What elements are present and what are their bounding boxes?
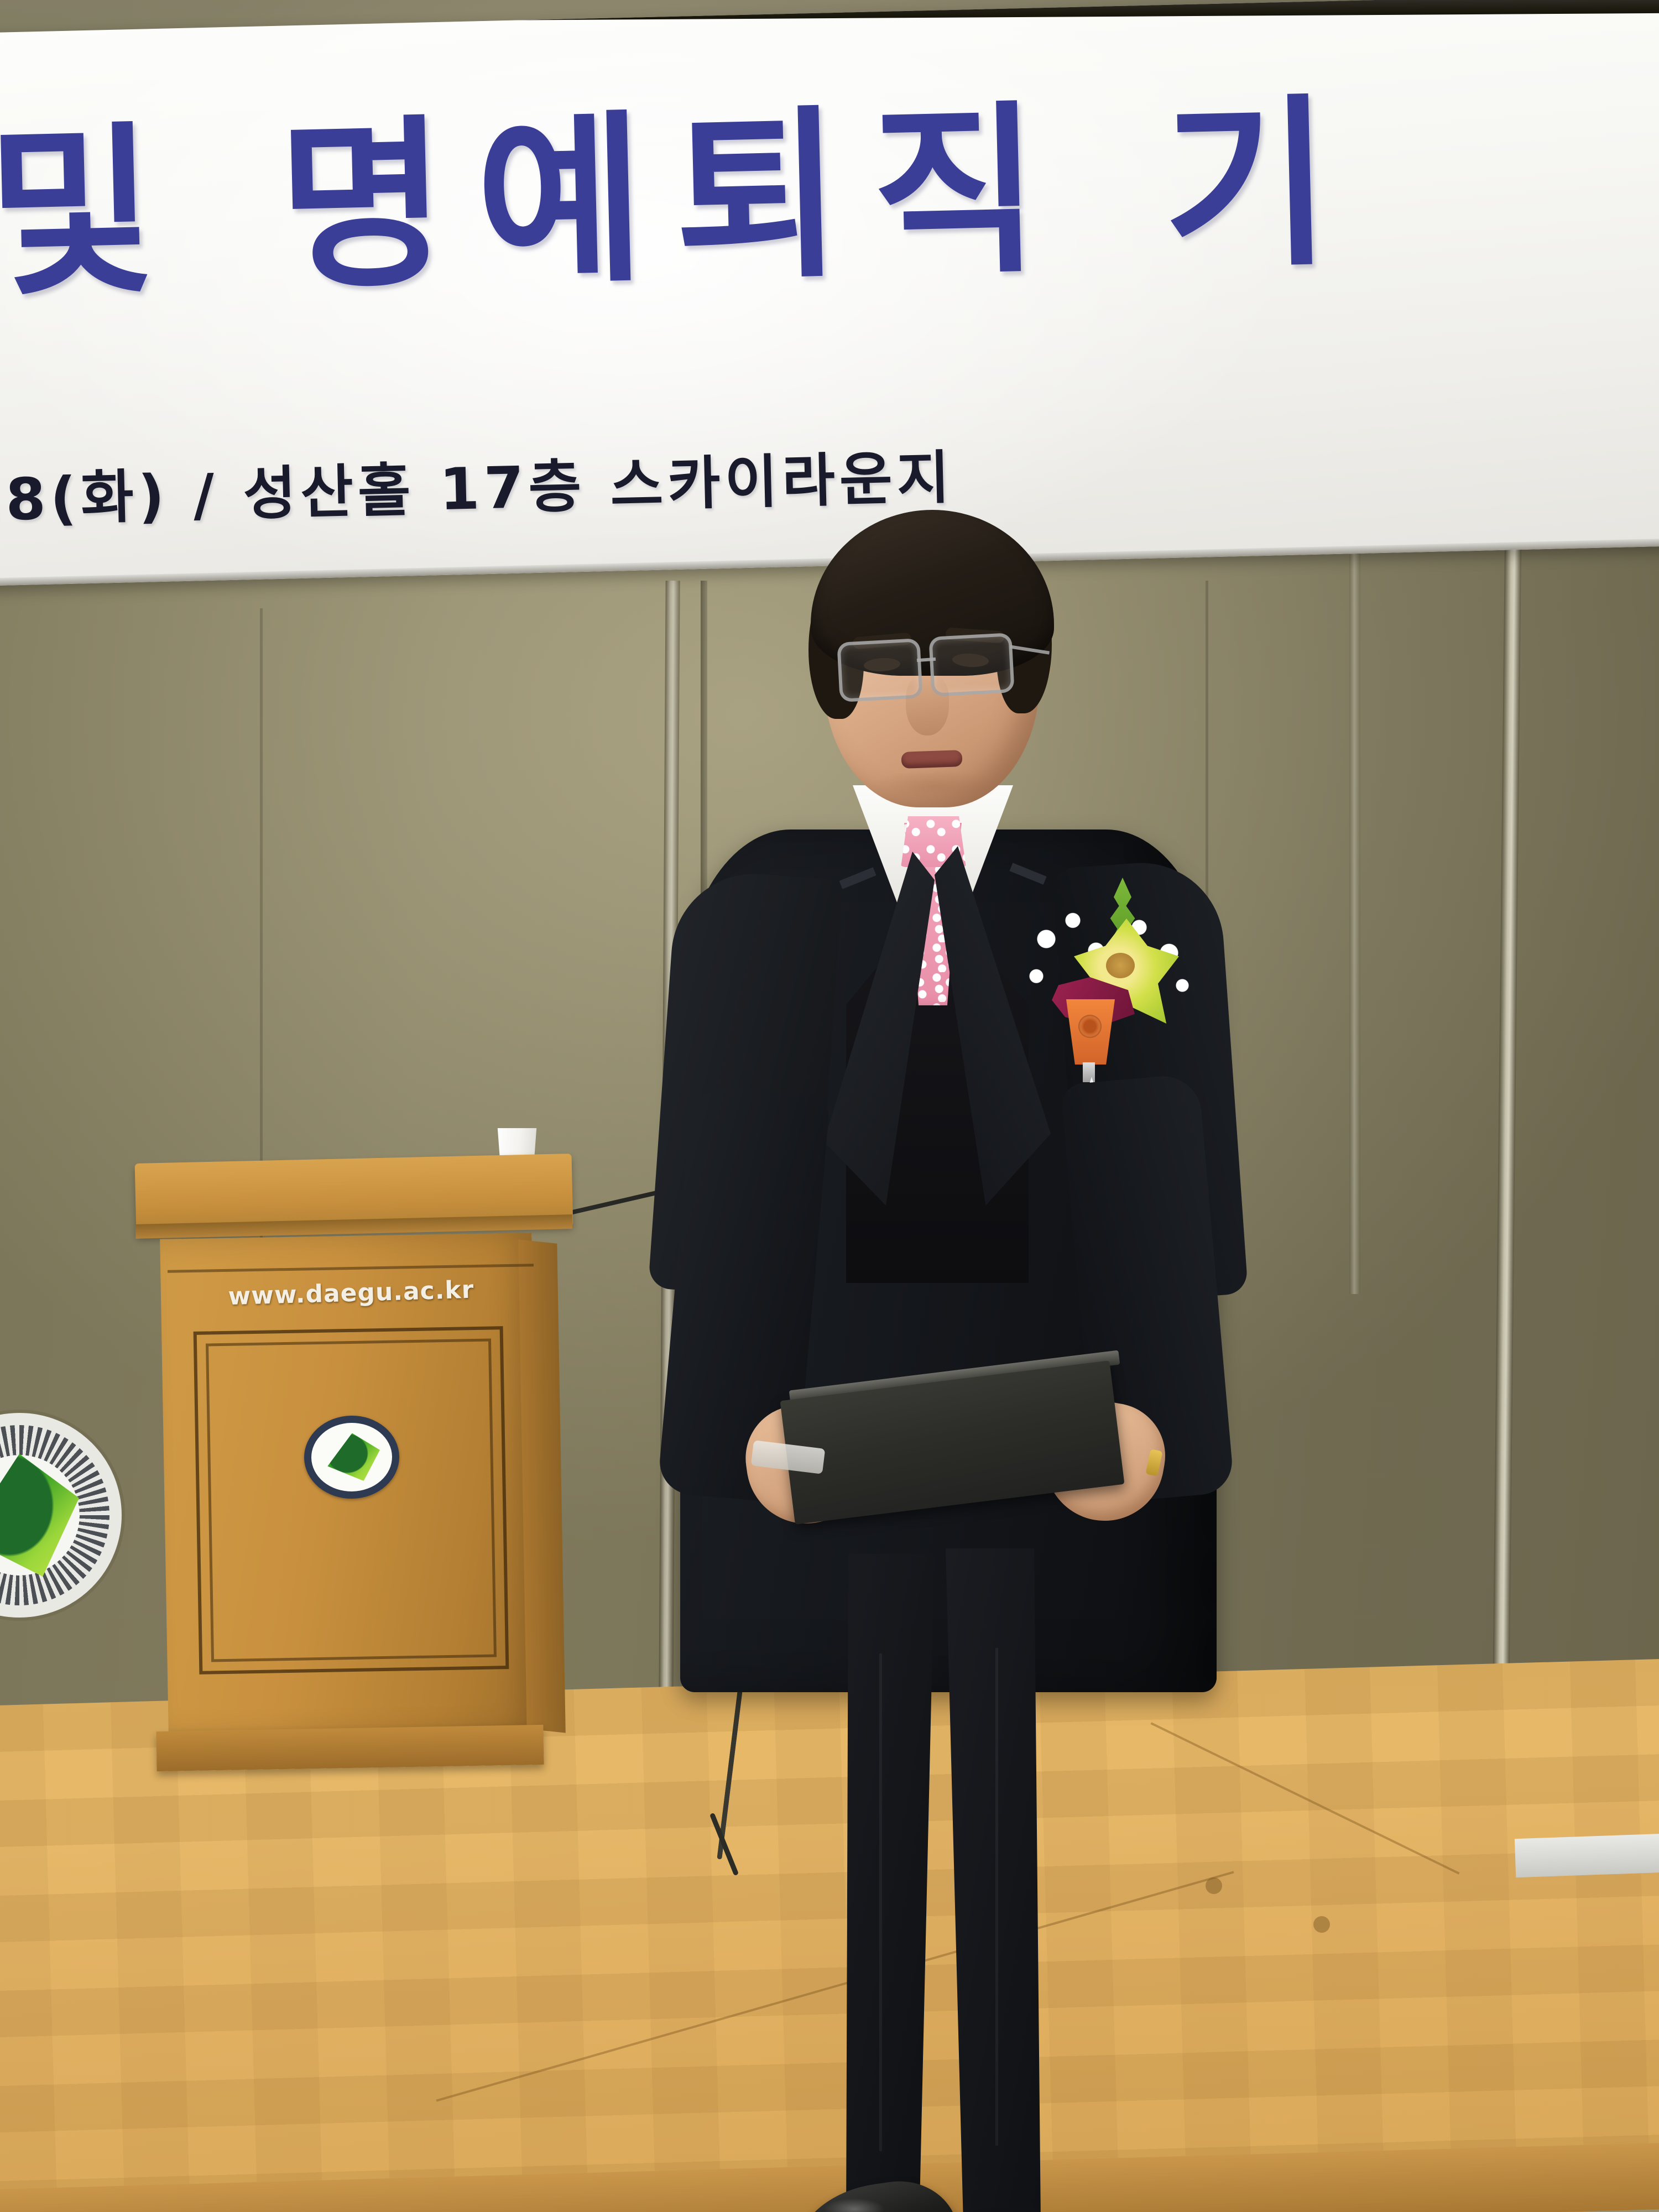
- podium-base: [156, 1725, 544, 1771]
- mouth: [901, 750, 963, 769]
- chin-shadow: [868, 770, 1001, 803]
- banner-title-text: 및 명예퇴직 기: [0, 27, 1659, 331]
- emblem-leaf-icon: [322, 1433, 383, 1482]
- orchid-center: [1106, 953, 1135, 978]
- podium-frame-inner: [206, 1339, 497, 1662]
- award-recipient: [658, 520, 1239, 2096]
- medal-ribbon-emblem-icon: [1078, 1015, 1102, 1038]
- stage-base-strip: [1515, 1833, 1659, 1877]
- medal-link: [1083, 1062, 1095, 1082]
- nose: [906, 674, 949, 735]
- photograph-scene: 및 명예퇴직 기 28(화) / 성산홀 17층 스카이라운지 www.daeg…: [0, 0, 1659, 2212]
- trouser-crease: [995, 1648, 998, 2146]
- trouser-crease: [879, 1653, 882, 2151]
- wall-mullion: [1349, 520, 1360, 1294]
- boutonniere-corsage: [1023, 882, 1189, 1081]
- floor-marker-dot: [1313, 1916, 1330, 1933]
- podium-side-panel: [518, 1239, 566, 1733]
- ceremony-banner: 및 명예퇴직 기 28(화) / 성산홀 17층 스카이라운지: [0, 0, 1659, 586]
- podium-lectern: www.daegu.ac.kr: [141, 1159, 583, 1794]
